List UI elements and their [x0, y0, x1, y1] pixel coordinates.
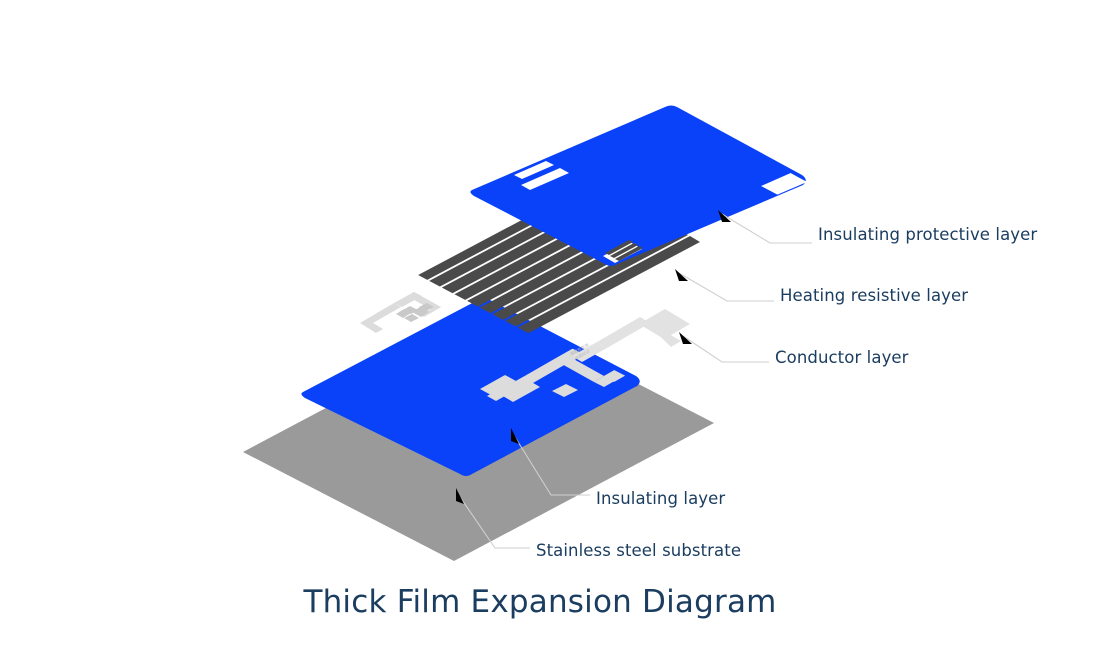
- page-title: Thick Film Expansion Diagram: [0, 584, 1080, 621]
- leader-arrowhead: [675, 269, 688, 281]
- callout-label-insulating-layer: Insulating layer: [596, 491, 725, 508]
- callout-label-conductor-layer: Conductor layer: [775, 350, 909, 367]
- callout-label-insulating-protective-layer: Insulating protective layer: [818, 227, 1037, 244]
- callout-label-heating-resistive-layer: Heating resistive layer: [780, 288, 968, 305]
- diagram-canvas: 薄膜发热体 电路标识: [0, 0, 1113, 660]
- exploded-layer-diagram: 薄膜发热体 电路标识: [0, 0, 1113, 660]
- leader-arrowhead: [679, 332, 692, 344]
- leader-line: [679, 273, 774, 301]
- leader-heating-resistive-layer: [675, 269, 774, 301]
- leader-line: [722, 214, 812, 243]
- leader-conductor-layer: [679, 332, 769, 362]
- leader-line: [683, 336, 769, 362]
- callout-label-stainless-steel-substrate: Stainless steel substrate: [536, 543, 741, 560]
- conductor-right-run: [597, 317, 650, 348]
- conductor-terminal-pad: [639, 309, 690, 339]
- conductor-left-arm: [360, 303, 401, 333]
